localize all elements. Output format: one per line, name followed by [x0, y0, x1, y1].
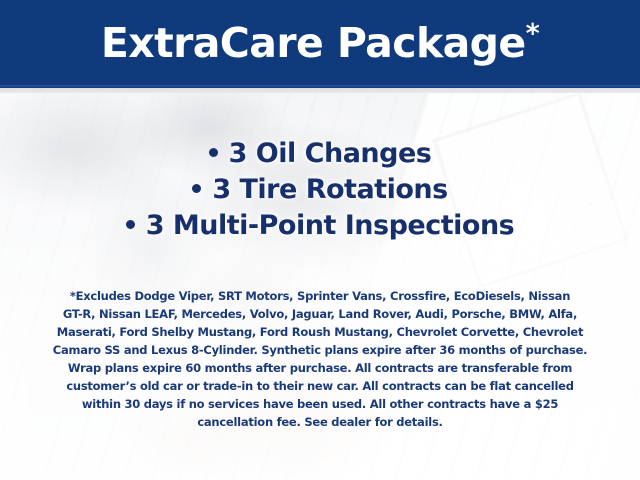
- benefit-label: 3 Tire Rotations: [212, 174, 447, 205]
- list-item: 3 Oil Changes: [0, 136, 640, 172]
- benefit-label: 3 Multi-Point Inspections: [146, 210, 515, 241]
- disclaimer-line: customer’s old car or trade-in to their …: [36, 377, 604, 395]
- list-item: 3 Multi-Point Inspections: [0, 208, 640, 244]
- disclaimer-line: *Excludes Dodge Viper, SRT Motors, Sprin…: [36, 287, 604, 305]
- header-divider-gap: [0, 88, 640, 93]
- disclaimer-line: Wrap plans expire 60 months after purcha…: [36, 359, 604, 377]
- page-title: ExtraCare Package*: [101, 23, 539, 66]
- disclaimer-line: cancellation fee. See dealer for details…: [36, 413, 604, 431]
- extracare-package-advertisement: ExtraCare Package* 3 Oil Changes 3 Tire …: [0, 0, 640, 480]
- bullet-dot-icon: [192, 184, 201, 193]
- disclaimer-line: Camaro SS and Lexus 8-Cylinder. Syntheti…: [36, 341, 604, 359]
- benefits-list: 3 Oil Changes 3 Tire Rotations 3 Multi-P…: [0, 136, 640, 244]
- header-banner: ExtraCare Package*: [0, 0, 640, 88]
- bullet-dot-icon: [209, 148, 218, 157]
- bullet-dot-icon: [126, 220, 135, 229]
- list-item: 3 Tire Rotations: [0, 172, 640, 208]
- benefit-label: 3 Oil Changes: [229, 138, 432, 169]
- disclaimer-text: *Excludes Dodge Viper, SRT Motors, Sprin…: [36, 287, 604, 431]
- disclaimer-line: within 30 days if no services have been …: [36, 395, 604, 413]
- disclaimer-line: GT-R, Nissan LEAF, Mercedes, Volvo, Jagu…: [36, 305, 604, 323]
- page-title-asterisk: *: [526, 18, 540, 49]
- disclaimer-line: Maserati, Ford Shelby Mustang, Ford Rous…: [36, 323, 604, 341]
- page-title-text: ExtraCare Package: [101, 19, 526, 67]
